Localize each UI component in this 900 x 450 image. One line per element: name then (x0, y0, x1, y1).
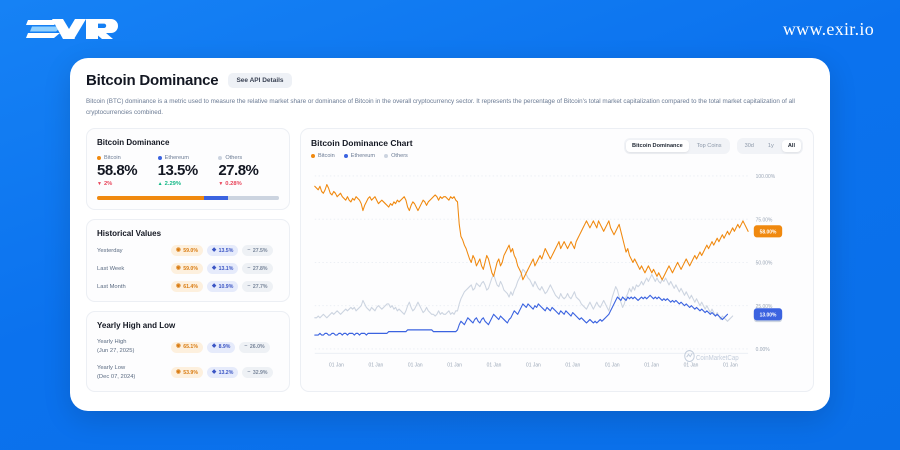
dominance-line-chart[interactable]: 0.00%25.00%50.00%75.00%100.00% 01 Jan01 … (311, 165, 803, 384)
svg-text:01 Jan: 01 Jan (368, 362, 383, 368)
table-row: Yearly Low (Dec 07, 2024) ◉53.9% ◆13.2% … (97, 364, 279, 382)
chart-legend-bitcoin[interactable]: Bitcoin (311, 153, 335, 159)
pill-bitcoin: ◉53.9% (171, 367, 203, 378)
dominance-legend-row: Bitcoin Ethereum Others (97, 155, 279, 161)
svg-text:01 Jan: 01 Jan (684, 362, 699, 368)
right-column: Bitcoin Dominance Chart Bitcoin Ethereum (300, 128, 814, 392)
range-all[interactable]: All (782, 140, 801, 152)
chart-legend-label-ethereum: Ethereum (351, 153, 375, 159)
top-bar: www.exir.io (0, 0, 900, 58)
value-others: 27.8% (218, 162, 279, 179)
others-dot-icon (384, 154, 388, 158)
range-30d[interactable]: 30d (739, 140, 760, 152)
pill-others: –27.8% (242, 263, 272, 274)
coinmarketcap-watermark: CoinMarketCap (696, 355, 739, 362)
bitcoin-icon: ◉ (176, 370, 181, 375)
pill-value-bitcoin: 65.1% (183, 344, 198, 350)
svg-text:01 Jan: 01 Jan (526, 362, 541, 368)
pill-value-bitcoin: 53.9% (183, 370, 198, 376)
svg-text:100.00%: 100.00% (756, 174, 776, 180)
chart-x-axis-labels: 01 Jan01 Jan01 Jan01 Jan01 Jan01 Jan01 J… (329, 362, 738, 368)
ethereum-dot-icon (158, 156, 162, 160)
chart-title: Bitcoin Dominance Chart (311, 138, 413, 148)
table-row: Last Week ◉59.0% ◆13.1% –27.8% (97, 263, 279, 274)
pill-ethereum: ◆13.1% (207, 263, 238, 274)
chart-header: Bitcoin Dominance Chart Bitcoin Ethereum (311, 138, 803, 159)
see-api-details-button[interactable]: See API Details (228, 73, 291, 88)
legend-bitcoin: Bitcoin (97, 155, 158, 161)
others-icon: – (247, 284, 250, 289)
others-icon: – (247, 248, 250, 253)
historical-row-pills: ◉59.0% ◆13.1% –27.8% (171, 263, 273, 274)
historical-values-panel: Historical Values Yesterday ◉59.0% ◆13.5… (86, 219, 290, 302)
chart-plot-area[interactable]: 0.00%25.00%50.00%75.00%100.00% 01 Jan01 … (311, 165, 803, 384)
bitcoin-dot-icon (311, 154, 315, 158)
value-ethereum: 13.5% (158, 162, 219, 179)
share-bar-ethereum (204, 196, 229, 200)
svg-text:01 Jan: 01 Jan (447, 362, 462, 368)
pill-value-bitcoin: 59.0% (183, 248, 198, 254)
yearly-row-label: Yearly Low (Dec 07, 2024) (97, 364, 171, 382)
chart-series-lines (315, 185, 748, 335)
chart-controls: Bitcoin Dominance Top Coins 30d 1y All (624, 138, 803, 154)
yearly-row-pills: ◉65.1% ◆8.9% –26.0% (171, 342, 270, 353)
table-row: Yesterday ◉59.0% ◆13.5% –27.5% (97, 245, 279, 256)
chart-legend-others[interactable]: Others (384, 153, 408, 159)
dominance-panel-title: Bitcoin Dominance (97, 138, 279, 147)
yearly-row-label: Yearly High (Jun 27, 2025) (97, 338, 171, 356)
pill-value-others: 32.9% (253, 370, 268, 376)
others-dot-icon (218, 156, 222, 160)
chart-header-left: Bitcoin Dominance Chart Bitcoin Ethereum (311, 138, 413, 159)
svg-text:50.00%: 50.00% (756, 260, 773, 266)
dominance-change-row: ▼ 2% ▲ 2.29% ▼ 0.28% (97, 181, 279, 187)
historical-row-pills: ◉59.0% ◆13.5% –27.5% (171, 245, 273, 256)
legend-ethereum: Ethereum (158, 155, 219, 161)
svg-text:01 Jan: 01 Jan (723, 362, 738, 368)
card-description: Bitcoin (BTC) dominance is a metric used… (86, 96, 802, 118)
svg-text:0.00%: 0.00% (756, 347, 770, 353)
svg-text:01 Jan: 01 Jan (408, 362, 423, 368)
dominance-chart-panel: Bitcoin Dominance Chart Bitcoin Ethereum (300, 128, 814, 392)
others-icon: – (244, 344, 247, 349)
ethereum-icon: ◆ (212, 248, 216, 253)
change-bitcoin: ▼ 2% (97, 181, 158, 187)
table-row: Yearly High (Jun 27, 2025) ◉65.1% ◆8.9% … (97, 338, 279, 356)
pill-value-ethereum: 13.1% (219, 266, 234, 272)
chart-y-axis-labels: 0.00%25.00%50.00%75.00%100.00% (756, 174, 776, 353)
ethereum-dot-icon (344, 154, 348, 158)
pill-ethereum: ◆13.2% (207, 367, 238, 378)
arrow-down-icon: ▼ (97, 182, 102, 187)
chart-legend-label-bitcoin: Bitcoin (318, 153, 335, 159)
pill-value-bitcoin: 59.0% (183, 266, 198, 272)
historical-row-label: Last Week (97, 266, 171, 272)
change-ethereum: ▲ 2.29% (158, 181, 219, 187)
yearly-high-date: (Jun 27, 2025) (97, 347, 171, 356)
ethereum-icon: ◆ (212, 284, 216, 289)
ethereum-icon: ◆ (212, 266, 216, 271)
pill-others: –27.5% (242, 245, 272, 256)
tab-bitcoin-dominance[interactable]: Bitcoin Dominance (626, 140, 689, 152)
change-others: ▼ 0.28% (218, 181, 279, 187)
chart-legend: Bitcoin Ethereum Others (311, 153, 413, 159)
pill-value-ethereum: 8.9% (219, 344, 231, 350)
card-header: Bitcoin Dominance See API Details (86, 72, 814, 89)
ethereum-icon: ◆ (212, 370, 216, 375)
yearly-high-label: Yearly High (97, 338, 171, 347)
pill-bitcoin: ◉65.1% (171, 342, 203, 353)
chart-view-tabs: Bitcoin Dominance Top Coins (624, 138, 730, 154)
pill-value-ethereum: 10.9% (219, 284, 234, 290)
svg-text:58.00%: 58.00% (760, 229, 777, 235)
pill-value-bitcoin: 61.4% (183, 284, 198, 290)
dominance-share-bar (97, 196, 279, 200)
svg-text:01 Jan: 01 Jan (605, 362, 620, 368)
legend-others: Others (218, 155, 279, 161)
yearly-panel-title: Yearly High and Low (97, 321, 279, 330)
pill-value-ethereum: 13.2% (219, 370, 234, 376)
yearly-high-low-panel: Yearly High and Low Yearly High (Jun 27,… (86, 311, 290, 392)
legend-label-bitcoin: Bitcoin (104, 155, 121, 161)
bitcoin-dominance-card: Bitcoin Dominance See API Details Bitcoi… (70, 58, 830, 411)
pill-bitcoin: ◉59.0% (171, 263, 203, 274)
left-column: Bitcoin Dominance Bitcoin Ethereum Other… (86, 128, 290, 392)
svg-text:75.00%: 75.00% (756, 217, 773, 223)
chart-range-tabs: 30d 1y All (737, 138, 803, 154)
range-1y[interactable]: 1y (762, 140, 780, 152)
legend-label-others: Others (225, 155, 242, 161)
page-title: Bitcoin Dominance (86, 72, 218, 89)
legend-label-ethereum: Ethereum (165, 155, 189, 161)
tab-top-coins[interactable]: Top Coins (691, 140, 728, 152)
pill-value-others: 27.7% (253, 284, 268, 290)
pill-ethereum: ◆8.9% (207, 342, 235, 353)
change-value-ethereum: 2.29% (165, 181, 181, 187)
exir-logo-icon (26, 14, 118, 44)
pill-others: –32.9% (242, 367, 272, 378)
svg-text:01 Jan: 01 Jan (329, 362, 344, 368)
chart-legend-label-others: Others (391, 153, 408, 159)
pill-value-others: 26.0% (250, 344, 265, 350)
arrow-down-icon-others: ▼ (218, 182, 223, 187)
bitcoin-icon: ◉ (176, 248, 181, 253)
bitcoin-dot-icon (97, 156, 101, 160)
svg-text:13.00%: 13.00% (760, 312, 777, 318)
yearly-low-label: Yearly Low (97, 364, 171, 373)
pill-ethereum: ◆13.5% (207, 245, 238, 256)
pill-others: –26.0% (239, 342, 269, 353)
chart-legend-ethereum[interactable]: Ethereum (344, 153, 375, 159)
pill-bitcoin: ◉59.0% (171, 245, 203, 256)
pill-value-others: 27.8% (253, 266, 268, 272)
bitcoin-icon: ◉ (176, 284, 181, 289)
exir-logo[interactable] (26, 14, 118, 44)
historical-row-label: Last Month (97, 284, 171, 290)
others-icon: – (247, 370, 250, 375)
pill-value-ethereum: 13.5% (219, 248, 234, 254)
yearly-low-date: (Dec 07, 2024) (97, 373, 171, 382)
pill-value-others: 27.5% (253, 248, 268, 254)
ethereum-icon: ◆ (212, 344, 216, 349)
bitcoin-icon: ◉ (176, 344, 181, 349)
table-row: Last Month ◉61.4% ◆10.9% –27.7% (97, 281, 279, 292)
site-url[interactable]: www.exir.io (783, 19, 874, 40)
coinmarketcap-logo-icon (685, 351, 694, 362)
svg-text:01 Jan: 01 Jan (644, 362, 659, 368)
pill-ethereum: ◆10.9% (207, 281, 238, 292)
yearly-row-pills: ◉53.9% ◆13.2% –32.9% (171, 367, 273, 378)
change-value-others: 0.28% (225, 181, 241, 187)
bitcoin-icon: ◉ (176, 266, 181, 271)
historical-row-pills: ◉61.4% ◆10.9% –27.7% (171, 281, 273, 292)
pill-others: –27.7% (242, 281, 272, 292)
dominance-summary-panel: Bitcoin Dominance Bitcoin Ethereum Other… (86, 128, 290, 210)
share-bar-others (228, 196, 279, 200)
share-bar-bitcoin (97, 196, 204, 200)
card-body: Bitcoin Dominance Bitcoin Ethereum Other… (86, 128, 814, 392)
change-value-bitcoin: 2% (104, 181, 112, 187)
arrow-up-icon: ▲ (158, 182, 163, 187)
pill-bitcoin: ◉61.4% (171, 281, 203, 292)
dominance-value-row: 58.8% 13.5% 27.8% (97, 162, 279, 179)
others-icon: – (247, 266, 250, 271)
historical-row-label: Yesterday (97, 248, 171, 254)
svg-text:01 Jan: 01 Jan (565, 362, 580, 368)
historical-panel-title: Historical Values (97, 229, 279, 238)
svg-text:01 Jan: 01 Jan (487, 362, 502, 368)
value-bitcoin: 58.8% (97, 162, 158, 179)
